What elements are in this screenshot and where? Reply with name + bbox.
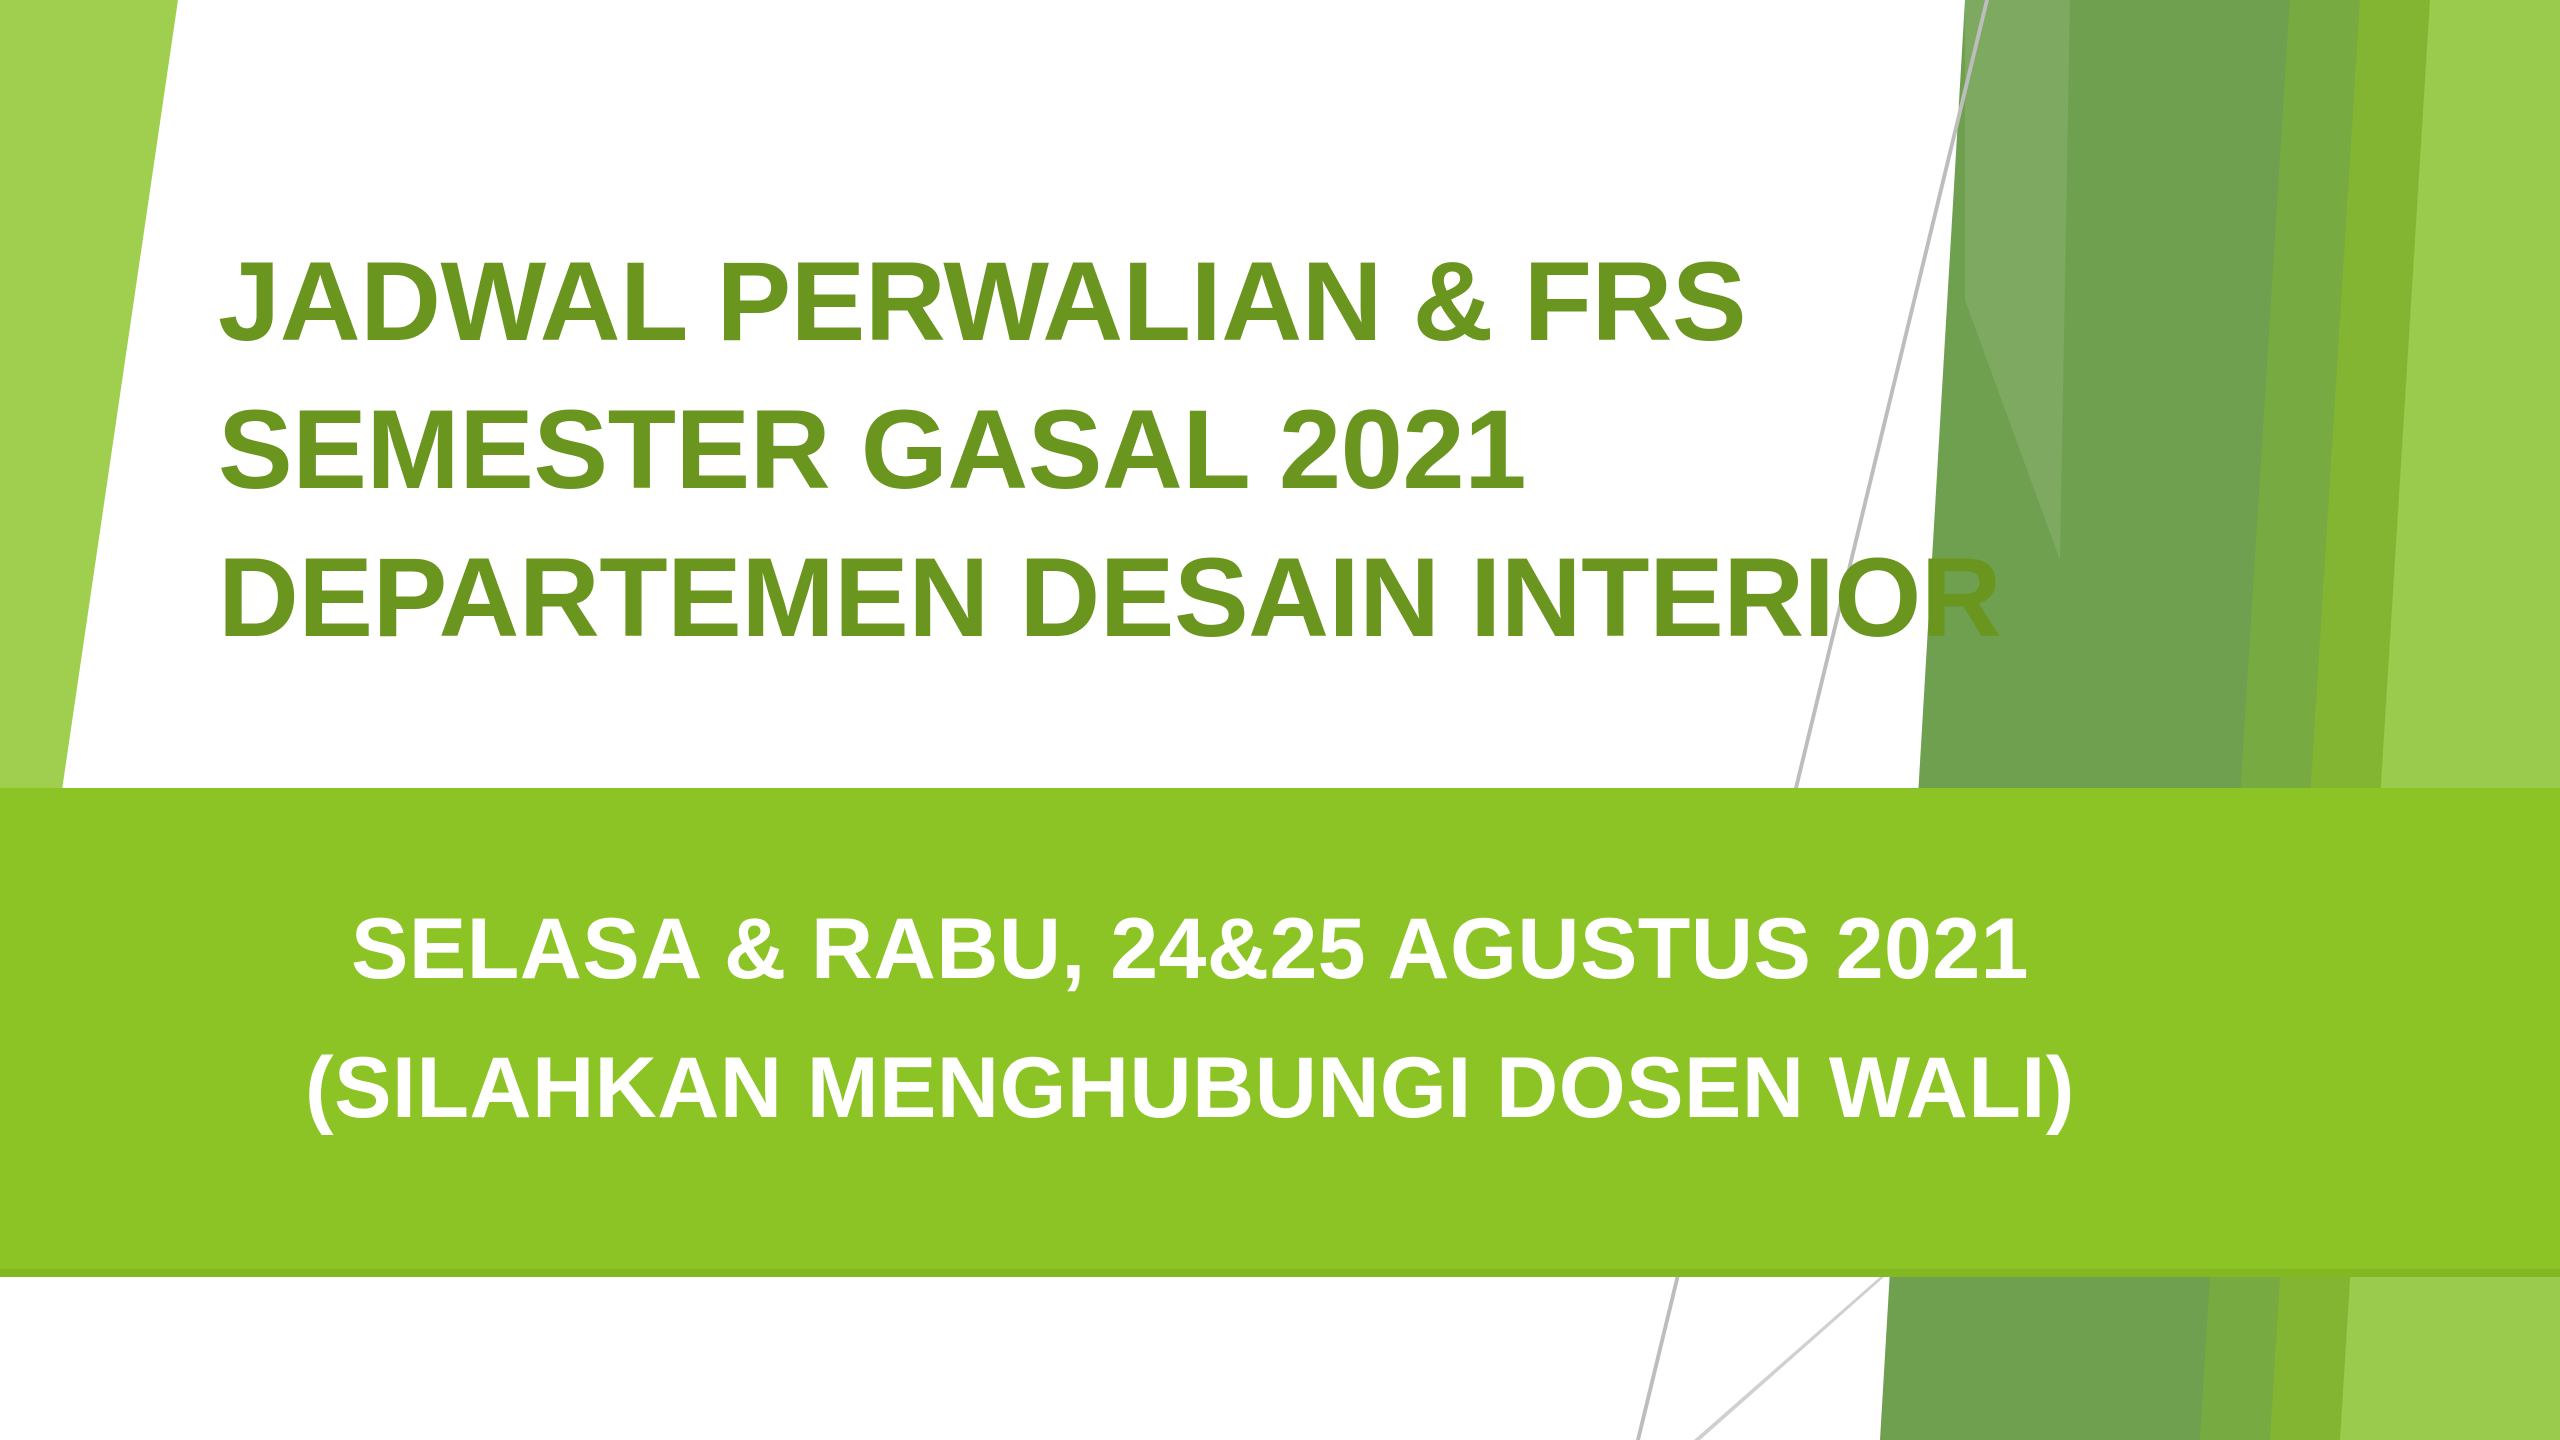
subtitle-line-1: SELASA & RABU, 24&25 AGUSTUS 2021 bbox=[0, 880, 2380, 1019]
diagonal-hairline-lower-shape bbox=[1694, 1255, 1909, 1440]
title-line-3: DEPARTEMEN DESAIN INTERIOR bbox=[218, 524, 2278, 672]
subtitle-line-2: (SILAHKAN MENGHUBUNGI DOSEN WALI) bbox=[0, 1019, 2380, 1158]
presentation-slide: JADWAL PERWALIAN & FRS SEMESTER GASAL 20… bbox=[0, 0, 2560, 1440]
title-line-1: JADWAL PERWALIAN & FRS bbox=[218, 228, 2278, 376]
slide-title: JADWAL PERWALIAN & FRS SEMESTER GASAL 20… bbox=[218, 228, 2278, 671]
slide-subtitle: SELASA & RABU, 24&25 AGUSTUS 2021 (SILAH… bbox=[0, 880, 2380, 1159]
subtitle-band-bottom-shade bbox=[0, 1269, 2560, 1277]
title-line-2: SEMESTER GASAL 2021 bbox=[218, 376, 2278, 524]
left-green-wedge-shape bbox=[0, 0, 178, 790]
